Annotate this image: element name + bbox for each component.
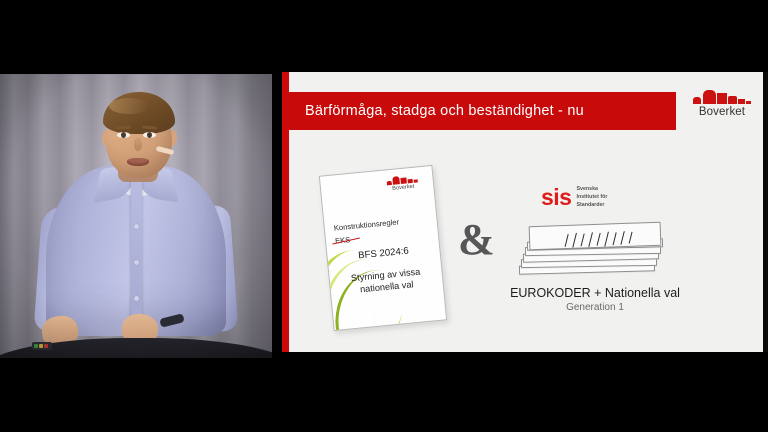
slide-title-bar: Bärförmåga, stadga och beständighet - nu [289,92,676,130]
sis-wordmark: sis [541,186,571,209]
stack-sublabel: Generation 1 [490,302,700,313]
presenter-shirt-placket [131,180,142,332]
document-heading: Konstruktionsregler [333,217,399,232]
presentation-clicker [32,342,52,350]
slide-title: Bärförmåga, stadga och beständighet - nu [289,103,584,119]
boverket-buildings-icon [691,88,753,104]
presenter-eye-right [143,132,156,138]
presenter-video-panel[interactable] [0,74,272,358]
screen-root: Bärförmåga, stadga och beständighet - nu… [0,0,768,432]
boverket-logo: Boverket [691,88,753,128]
presenter-nose [134,138,142,151]
stack-top-sheet [529,222,662,251]
sis-subtext-line1: Svenska [576,186,607,194]
stack-label: EUROKODER + Nationella val [490,286,700,300]
presenter-eye-left [117,132,130,138]
sis-subtext-line2: Institutet för [576,194,607,202]
presenter-figure [0,74,272,358]
sis-subtext-line3: Standarder [576,202,607,210]
ampersand-symbol: & [458,218,495,262]
stack-sheet-textlines [566,231,639,254]
presenter-hair [103,92,175,134]
shirt-button [134,260,139,265]
konstruktionsregler-document[interactable]: Boverket Konstruktionsregler EKS BFS 202… [326,170,440,326]
shirt-button [134,296,139,301]
slide-left-accent-stripe [282,72,289,352]
boverket-logo-text: Boverket [691,106,753,118]
document-struck-text: EKS [335,235,351,245]
slide-right-edge [763,72,768,352]
presenter-mouth [127,158,149,166]
document-boverket-logo: Boverket [380,174,425,193]
shirt-button [134,224,139,229]
document-page: Boverket Konstruktionsregler EKS BFS 202… [319,165,447,331]
sis-logo: sis Svenska Institutet för Standarder [541,186,607,210]
sis-logo-subtext: Svenska Institutet för Standarder [576,186,607,210]
paper-stack-icon [515,222,667,284]
